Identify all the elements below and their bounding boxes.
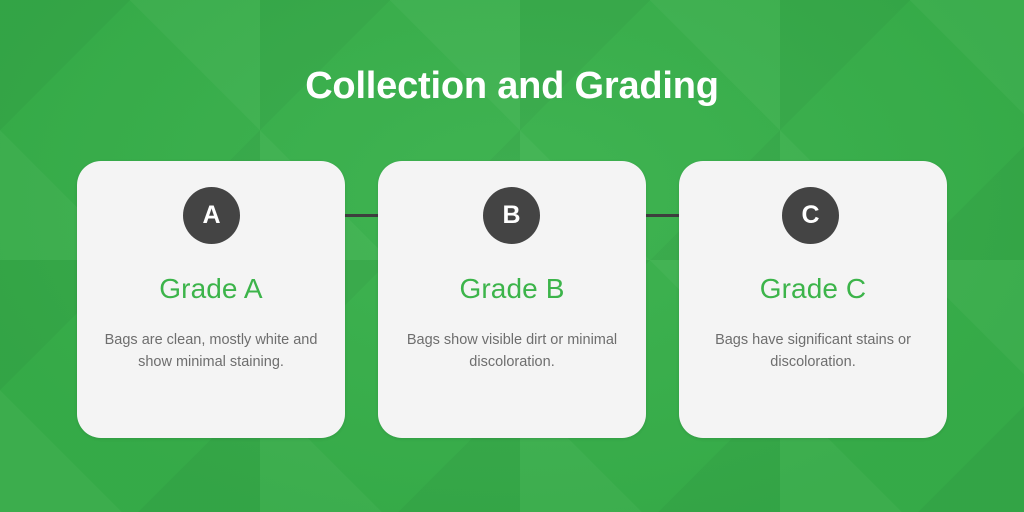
grade-card-description: Bags show visible dirt or minimal discol…	[400, 329, 624, 374]
grade-card-description: Bags have significant stains or discolor…	[701, 329, 925, 374]
grade-card-description: Bags are clean, mostly white and show mi…	[99, 329, 323, 374]
grade-card-title: Grade B	[378, 273, 646, 305]
page-title: Collection and Grading	[0, 66, 1024, 108]
grade-badge-circle-a: A	[183, 187, 240, 244]
infographic-slide: Collection and Grading Grade A Bags are …	[0, 0, 1024, 512]
grade-card-title: Grade A	[77, 273, 345, 305]
grade-card-title: Grade C	[679, 273, 947, 305]
grade-badge-circle-c: C	[782, 187, 839, 244]
grade-badge-circle-b: B	[483, 187, 540, 244]
